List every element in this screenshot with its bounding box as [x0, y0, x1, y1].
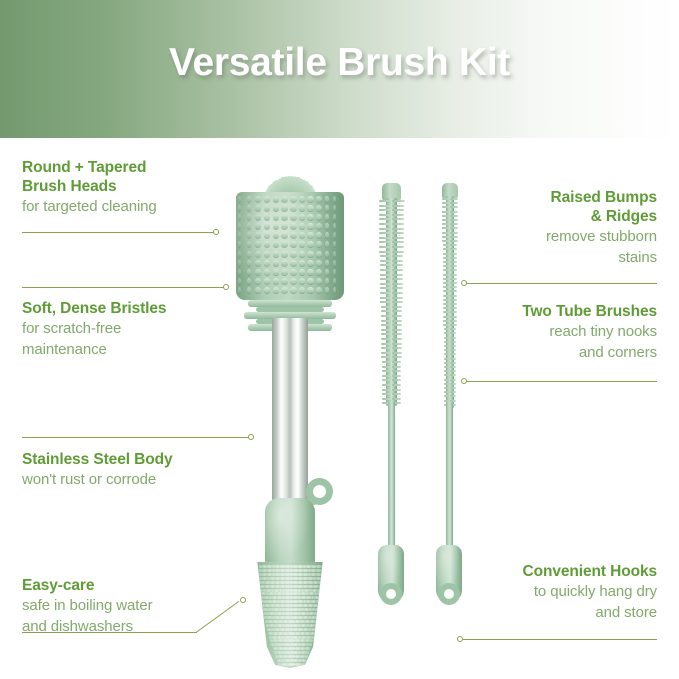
- bristle-dot: [321, 581, 324, 584]
- tube-brush-bristle: [450, 370, 456, 372]
- bristle-dot: [317, 592, 320, 595]
- tube-brush-bristle: [381, 315, 392, 317]
- bristle-dot: [310, 639, 313, 642]
- raised-bump: [264, 251, 270, 257]
- tube-brush-bristle: [392, 315, 403, 317]
- raised-bump: [307, 269, 313, 275]
- tube-brush-bristle: [443, 299, 450, 301]
- raised-bump: [281, 223, 288, 229]
- raised-bump: [333, 223, 336, 229]
- tube-brush-bristle: [442, 232, 450, 234]
- raised-bump: [290, 196, 297, 202]
- tube-brush-bristle: [450, 379, 456, 381]
- tube-brush-bristle: [380, 260, 392, 262]
- callout-stainless-steel-body: Stainless Steel Body won't rust or corro…: [22, 450, 172, 490]
- bristle-dot: [317, 589, 320, 592]
- raised-bump: [264, 205, 270, 211]
- raised-bump: [325, 278, 330, 284]
- raised-bump: [273, 196, 280, 202]
- tube-brush-bristle: [450, 253, 457, 255]
- raised-bump: [238, 232, 241, 238]
- raised-bump: [307, 278, 313, 284]
- collar-ring-1: [248, 300, 332, 307]
- callout-soft-dense-bristles: Soft, Dense Bristles for scratch-free ma…: [22, 299, 166, 360]
- tube-brush-bristle: [450, 244, 457, 246]
- bristle-dot: [315, 604, 318, 607]
- tube-brush-bristle: [450, 278, 457, 280]
- bristle-dot: [314, 624, 317, 627]
- tube-brush-bristle: [392, 223, 405, 225]
- callout-body-line2: and corners: [522, 342, 657, 363]
- raised-bump: [273, 287, 280, 293]
- callout-body-line2: and store: [523, 602, 657, 623]
- tube-brush-bristle: [450, 320, 457, 322]
- round-brush-head-drum: [236, 192, 344, 300]
- raised-bump: [333, 241, 336, 247]
- raised-bump: [307, 287, 313, 293]
- callout-body: safe in boiling water: [22, 595, 152, 616]
- tube-brush-bristle: [392, 237, 404, 239]
- raised-bump: [307, 251, 313, 257]
- tube-brush-bristle: [443, 282, 450, 284]
- raised-bump: [307, 260, 313, 266]
- tube-brush-bristle: [443, 274, 450, 276]
- tube-brush-bristle: [450, 219, 458, 221]
- raised-bump: [307, 223, 313, 229]
- connector-line-stainless: [22, 437, 250, 438]
- tube-brush-bristle: [392, 205, 405, 207]
- raised-bump: [290, 241, 297, 247]
- connector-dot-soft-bristles: [223, 284, 229, 290]
- raised-bump: [247, 260, 252, 266]
- raised-bump: [264, 232, 270, 238]
- raised-bump: [238, 223, 241, 229]
- connector-dot-stainless: [248, 434, 254, 440]
- raised-bump: [290, 251, 297, 257]
- tube-brush-bristle: [443, 316, 450, 318]
- raised-bump: [316, 214, 322, 220]
- tube-brush-bristle: [382, 361, 392, 363]
- tube-brush-bristle: [392, 209, 405, 211]
- callout-body-line2: maintenance: [22, 339, 166, 360]
- raised-bump: [247, 251, 252, 257]
- raised-bump: [325, 223, 330, 229]
- brush-grip-handle: [265, 498, 315, 570]
- tube-brush-bristle: [382, 366, 392, 368]
- bristle-dot: [319, 600, 322, 603]
- tube-brush-bristle: [450, 223, 458, 225]
- tube-brush-bristle: [392, 200, 405, 202]
- tube-brush-bristle: [450, 274, 457, 276]
- connector-line-soft-bristles: [22, 287, 225, 288]
- callout-body: for targeted cleaning: [22, 196, 157, 217]
- tube-brush-bristle: [450, 328, 456, 330]
- tube-brush-bristle: [392, 301, 403, 303]
- tube-brush-bristle: [443, 286, 450, 288]
- tube-brush-bristle: [392, 320, 403, 322]
- tube-brush-bristle: [392, 214, 405, 216]
- raised-bump: [281, 287, 288, 293]
- raised-bump: [264, 214, 270, 220]
- raised-bump: [281, 196, 288, 202]
- tube-brush-bristle: [450, 391, 456, 393]
- tube-brush-bristle: [443, 320, 450, 322]
- tube-brush-bristle: [392, 329, 403, 331]
- raised-bump: [325, 205, 330, 211]
- connector-line-round-tapered: [22, 232, 215, 233]
- tube-brush-bristle: [379, 223, 392, 225]
- tube-brush-bristle: [450, 316, 457, 318]
- callout-convenient-hooks: Convenient Hooks to quickly hang dry and…: [523, 562, 657, 623]
- raised-bump: [247, 196, 252, 202]
- callout-body: to quickly hang dry: [523, 581, 657, 602]
- tube-brush-bristle: [392, 255, 404, 257]
- raised-bump: [247, 269, 252, 275]
- raised-bump: [299, 241, 306, 247]
- connector-dot-two-tube: [461, 378, 467, 384]
- raised-bump: [299, 232, 306, 238]
- raised-bump: [333, 196, 336, 202]
- callout-body: won't rust or corrode: [22, 469, 172, 490]
- bristle-dot: [311, 636, 314, 639]
- tube-brush-bristle: [392, 260, 404, 262]
- bristle-dot: [320, 585, 323, 588]
- raised-bump: [273, 223, 280, 229]
- tube-brush-bristle: [450, 307, 457, 309]
- raised-bump: [307, 232, 313, 238]
- tube-brush-bristle: [450, 366, 456, 368]
- raised-bump: [316, 278, 322, 284]
- raised-bump: [238, 214, 241, 220]
- tube-brush-bristle: [379, 232, 391, 234]
- tube-brush-bristle: [392, 370, 402, 372]
- tube-brush-bristle: [379, 200, 392, 202]
- raised-bump: [333, 232, 336, 238]
- tube-brush-bristle: [442, 202, 450, 204]
- raised-bump: [333, 260, 336, 266]
- raised-bump: [316, 205, 322, 211]
- raised-bump: [264, 287, 270, 293]
- tube-brush-bristle: [443, 261, 450, 263]
- tube-brush-bristle: [450, 265, 457, 267]
- tube-brush-bristle: [442, 240, 450, 242]
- tube-brush-bristle: [381, 324, 392, 326]
- tube-brush-bristle: [450, 303, 457, 305]
- raised-bump: [299, 251, 306, 257]
- raised-bump: [307, 214, 313, 220]
- bristle-dot: [318, 604, 321, 607]
- infographic-canvas: Versatile Brush Kit: [0, 0, 679, 679]
- raised-bump: [247, 232, 252, 238]
- callout-body: for scratch-free: [22, 318, 166, 339]
- connector-dot-convenient-hooks: [457, 636, 463, 642]
- tube-brush-bristle: [450, 337, 456, 339]
- bristle-dot: [318, 581, 321, 584]
- tube-brush-bristle: [382, 393, 391, 395]
- tube-brush-bristle: [382, 389, 391, 391]
- raised-bump: [316, 287, 322, 293]
- raised-bump: [333, 287, 336, 293]
- raised-bump: [273, 251, 280, 257]
- tube-brush-bristle: [392, 292, 403, 294]
- raised-bump: [281, 232, 288, 238]
- tube-brush-bristle: [380, 283, 391, 285]
- tube-brush-bristle: [392, 283, 403, 285]
- tube-brush-bristle: [392, 347, 402, 349]
- tube-brush-bristle: [450, 358, 456, 360]
- bristle-dot: [321, 573, 324, 576]
- raised-bump: [333, 269, 336, 275]
- raised-bump: [307, 196, 313, 202]
- tube-brush-bristle: [443, 253, 450, 255]
- tube-brush-bristle: [392, 306, 403, 308]
- raised-bump: [333, 278, 336, 284]
- raised-bump: [299, 214, 306, 220]
- tube-brush-bristle: [392, 389, 401, 391]
- raised-bump: [299, 278, 306, 284]
- raised-bump: [273, 232, 280, 238]
- raised-bump: [238, 196, 241, 202]
- tube-brush-bristle: [450, 286, 457, 288]
- raised-bump: [299, 205, 306, 211]
- tube-brush-bristle: [379, 214, 392, 216]
- bristle-dot: [316, 616, 319, 619]
- tapered-brush-head: [256, 562, 324, 668]
- raised-bump: [325, 196, 330, 202]
- tube-brush-bristle: [443, 324, 450, 326]
- bristle-dot: [316, 600, 319, 603]
- bristle-dot: [321, 569, 324, 572]
- raised-bump: [264, 241, 270, 247]
- bristle-dot: [312, 632, 315, 635]
- tube-brush-bristle: [442, 219, 450, 221]
- callout-heading-line2: & Ridges: [546, 207, 657, 226]
- callout-body-line2: stains: [546, 247, 657, 268]
- raised-bump: [316, 196, 322, 202]
- tube-brush-bristle: [392, 278, 404, 280]
- tube-brush-bristle: [443, 303, 450, 305]
- tube-brush-bristle: [450, 362, 456, 364]
- raised-bump: [290, 232, 297, 238]
- raised-bump: [273, 260, 280, 266]
- raised-bump: [290, 269, 297, 275]
- tube-brush-bristle: [442, 236, 450, 238]
- tube-brush-bristle: [382, 384, 391, 386]
- raised-bump: [325, 232, 330, 238]
- tube-brush-bristle: [380, 269, 392, 271]
- raised-bump: [247, 287, 252, 293]
- raised-bump: [299, 269, 306, 275]
- raised-bump: [238, 205, 241, 211]
- raised-bump: [255, 223, 261, 229]
- bristle-dot: [306, 651, 309, 654]
- raised-bump: [325, 241, 330, 247]
- raised-bump: [307, 241, 313, 247]
- callout-heading: Stainless Steel Body: [22, 450, 172, 469]
- tube-brush-bristle: [380, 301, 391, 303]
- tube-brush-bristle: [392, 375, 402, 377]
- tube-brush-bristle: [392, 251, 404, 253]
- tube-brush-bristle: [381, 320, 392, 322]
- tube-brush-bristle: [450, 236, 458, 238]
- tube-brush-bristle: [443, 307, 450, 309]
- tube-brush-bristle: [443, 257, 450, 259]
- tube-brush-bristle: [379, 251, 391, 253]
- raised-bump: [281, 241, 288, 247]
- raised-bump: [273, 205, 280, 211]
- callout-heading: Round + Tapered: [22, 158, 157, 177]
- raised-bump: [255, 241, 261, 247]
- tube-brush-bristle: [379, 228, 391, 230]
- raised-bump: [316, 269, 322, 275]
- tube-brush-bristle: [443, 278, 450, 280]
- raised-bump: [325, 251, 330, 257]
- tube-brush-bristle: [450, 198, 458, 200]
- tube-brush-bristle: [392, 352, 402, 354]
- callout-round-tapered-brush-heads: Round + Tapered Brush Heads for targeted…: [22, 158, 157, 217]
- bristle-dot: [313, 628, 316, 631]
- callout-heading: Raised Bumps: [546, 188, 657, 207]
- bristle-dot: [317, 608, 320, 611]
- tube-brush-bristle: [381, 347, 391, 349]
- connector-line-raised-bumps: [466, 283, 657, 284]
- raised-bump: [247, 241, 252, 247]
- tube-brush-bristle: [379, 246, 391, 248]
- raised-bump: [238, 269, 241, 275]
- raised-bump: [264, 196, 270, 202]
- bristle-dot: [316, 596, 319, 599]
- bristle-dot: [321, 565, 324, 568]
- raised-bump: [281, 205, 288, 211]
- raised-bump: [290, 287, 297, 293]
- raised-bump: [281, 269, 288, 275]
- connector-dot-easy-care: [240, 597, 246, 603]
- tube-brush-bristle: [442, 211, 450, 213]
- thin-tube-brush-stem: [446, 402, 453, 552]
- raised-bump: [325, 260, 330, 266]
- tube-brush-bristle: [443, 244, 450, 246]
- raised-bump: [255, 205, 261, 211]
- tube-brush-bristle: [380, 255, 392, 257]
- tube-brush-bristle: [392, 393, 401, 395]
- tube-brush-bristle: [392, 228, 404, 230]
- tube-brush-bristle: [380, 297, 391, 299]
- tube-brush-bristle: [392, 343, 402, 345]
- raised-bump: [238, 241, 241, 247]
- raised-bump: [316, 260, 322, 266]
- callout-heading-line2: Brush Heads: [22, 177, 157, 196]
- raised-bump: [325, 214, 330, 220]
- callout-heading: Easy-care: [22, 576, 152, 595]
- tube-brush-bristle: [381, 352, 391, 354]
- raised-bump: [290, 205, 297, 211]
- tube-brush-bristle: [450, 282, 457, 284]
- tube-brush-bristle: [450, 383, 456, 385]
- thick-tube-brush-stem: [388, 400, 395, 552]
- raised-bump: [299, 196, 306, 202]
- raised-bump: [299, 223, 306, 229]
- callout-heading: Convenient Hooks: [523, 562, 657, 581]
- raised-bump: [247, 205, 252, 211]
- raised-bump: [255, 251, 261, 257]
- raised-bump: [238, 251, 241, 257]
- tube-brush-bristle: [392, 274, 404, 276]
- raised-bump: [325, 287, 330, 293]
- tube-brush-bristle: [450, 261, 457, 263]
- connector-dot-round-tapered: [213, 229, 219, 235]
- raised-bump: [281, 260, 288, 266]
- callout-easy-care: Easy-care safe in boiling water and dish…: [22, 576, 152, 637]
- raised-bump: [299, 287, 306, 293]
- raised-bump: [316, 241, 322, 247]
- tube-brush-bristle: [450, 257, 457, 259]
- raised-bump: [281, 214, 288, 220]
- bristle-dot: [307, 647, 310, 650]
- tube-brush-bristle: [450, 240, 458, 242]
- callout-body: reach tiny nooks: [522, 321, 657, 342]
- raised-bump: [255, 260, 261, 266]
- raised-bump: [273, 278, 280, 284]
- tube-brush-bristle: [444, 328, 450, 330]
- tube-brush-bristle: [450, 341, 456, 343]
- raised-bump: [273, 269, 280, 275]
- tube-brush-bristle: [450, 299, 457, 301]
- raised-bump: [281, 278, 288, 284]
- bristle-dot: [321, 577, 324, 580]
- bristle-dot: [318, 585, 321, 588]
- tube-brush-bristle: [392, 324, 403, 326]
- tube-brush-bristle: [443, 295, 450, 297]
- raised-bump: [307, 205, 313, 211]
- raised-bump: [325, 269, 330, 275]
- tube-brush-bristle: [442, 198, 450, 200]
- tube-brush-bristle: [379, 209, 392, 211]
- raised-bump: [273, 241, 280, 247]
- thin-tube-brush-hook-hole: [438, 583, 460, 605]
- tube-brush-bristle: [392, 269, 404, 271]
- tube-brush-bristle: [450, 387, 456, 389]
- stainless-steel-shaft: [272, 318, 308, 508]
- tube-brush-bristle: [442, 215, 450, 217]
- raised-bump: [333, 251, 336, 257]
- tube-brush-bristle: [450, 345, 456, 347]
- raised-bump: [264, 223, 270, 229]
- tube-brush-bristle: [442, 223, 450, 225]
- raised-bump: [255, 232, 261, 238]
- raised-bump: [316, 223, 322, 229]
- raised-bump: [255, 269, 261, 275]
- raised-bump: [299, 260, 306, 266]
- callout-heading: Two Tube Brushes: [522, 302, 657, 321]
- bristle-dot: [320, 589, 323, 592]
- bristle-dot: [305, 655, 308, 658]
- tube-brush-bristle: [392, 297, 403, 299]
- tube-brush-bristle: [381, 306, 392, 308]
- raised-bump: [290, 214, 297, 220]
- callout-two-tube-brushes: Two Tube Brushes reach tiny nooks and co…: [522, 302, 657, 363]
- raised-bump: [290, 278, 297, 284]
- tube-brush-bristle: [382, 370, 392, 372]
- raised-bump: [255, 214, 261, 220]
- thick-tube-brush-hook-hole: [380, 583, 402, 605]
- raised-bump: [247, 223, 252, 229]
- raised-bump: [247, 278, 252, 284]
- raised-bump: [264, 260, 270, 266]
- raised-bump: [333, 214, 336, 220]
- raised-bump: [255, 196, 261, 202]
- tube-brush-bristle: [392, 246, 404, 248]
- tube-brush-bristle: [380, 292, 391, 294]
